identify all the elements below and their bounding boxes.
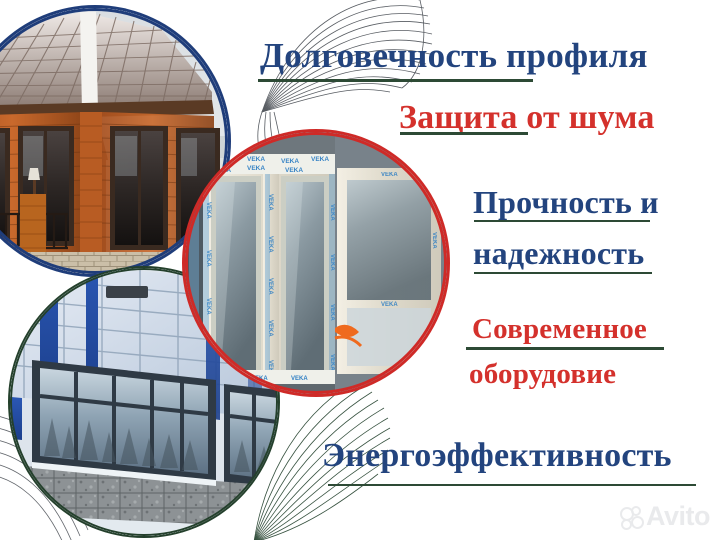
svg-text:VEKA: VEKA — [381, 302, 398, 308]
headline-energy-efficiency: Энергоэффективность — [322, 437, 672, 475]
headline-durability-underline — [258, 79, 533, 82]
svg-text:VEKA: VEKA — [247, 156, 265, 163]
svg-text:VEKA: VEKA — [247, 165, 265, 172]
headline-modern-equipment-2: оборудовие — [469, 358, 616, 391]
headline-noise-protection-underline — [400, 132, 528, 135]
avito-watermark: Avito — [620, 503, 710, 530]
avito-watermark-label: Avito — [646, 503, 710, 530]
headline-strength-underline — [474, 220, 650, 222]
svg-text:VEKA: VEKA — [431, 232, 437, 249]
headline-reliability: надежность — [473, 235, 644, 272]
headline-durability: Долговечность профиля — [260, 36, 648, 76]
svg-text:VEKA: VEKA — [285, 167, 303, 174]
svg-text:VEKA: VEKA — [213, 376, 230, 382]
headline-modern-equipment-underline — [466, 347, 664, 350]
headline-reliability-underline — [474, 272, 652, 274]
headline-strength: Прочность и — [473, 184, 659, 221]
svg-text:VEKA: VEKA — [251, 376, 268, 382]
svg-text:VEKA: VEKA — [213, 158, 231, 165]
headline-energy-efficiency-underline — [328, 484, 696, 486]
svg-text:VEKA: VEKA — [291, 376, 308, 382]
svg-text:VEKA: VEKA — [311, 156, 329, 163]
avito-dots-logo-icon — [620, 506, 642, 528]
headline-modern-equipment-1: Современное — [472, 313, 647, 346]
svg-text:VEKA: VEKA — [381, 172, 398, 178]
svg-text:VEKA: VEKA — [213, 167, 231, 174]
svg-text:VEKA: VEKA — [281, 158, 299, 165]
advertisement-poster: VEKAVEKA VEKA VEKAVEKA VEKAVEKA VEKAVEKA… — [0, 0, 720, 540]
pvc-windows-photo: VEKAVEKA VEKA VEKAVEKA VEKAVEKA VEKAVEKA… — [185, 132, 447, 394]
